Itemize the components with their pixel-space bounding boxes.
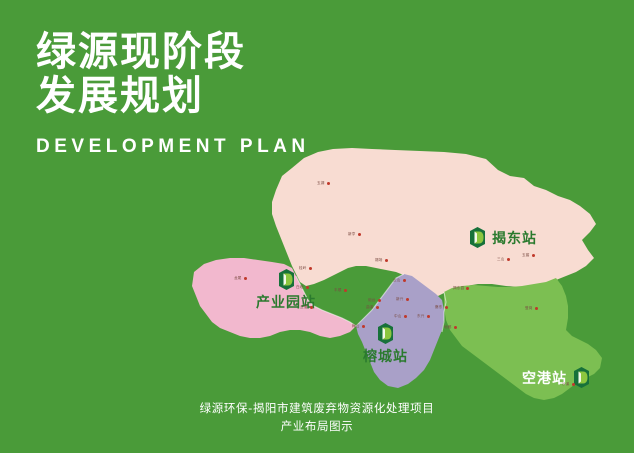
station-konggang[interactable]: 空港站 [522, 366, 591, 389]
city-marker: 玉窖 [522, 253, 535, 258]
city-label: 沙溪 [562, 382, 570, 387]
city-marker: 东兴 [417, 314, 430, 319]
caption-line-2: 产业布局图示 [0, 417, 634, 435]
station-rongcheng[interactable]: 榕城站 [363, 322, 408, 366]
city-dot-icon [376, 306, 379, 309]
city-label: 登岗 [525, 306, 533, 311]
city-dot-icon [378, 299, 381, 302]
city-marker: 梅云 [352, 324, 365, 329]
city-label: 炮台 [368, 298, 376, 303]
city-label: 玉窖 [522, 253, 530, 258]
title-block: 绿源现阶段 发展规划 DEVELOPMENT PLAN [36, 30, 366, 158]
city-marker: 锡场 [375, 258, 388, 263]
city-marker: 新兴 [396, 297, 409, 302]
city-label: 中山 [394, 314, 402, 319]
city-marker: 新亨 [348, 232, 361, 237]
city-dot-icon [445, 306, 448, 309]
city-marker: 云山 [393, 278, 406, 283]
caption-block: 绿源环保-揭阳市建筑废弃物资源化处理项目 产业布局图示 [0, 399, 634, 435]
green-leaf-logo-icon [468, 226, 487, 249]
city-label: 三山 [497, 257, 505, 262]
city-label: 揭东县 [453, 286, 464, 291]
city-marker: 白塔 [296, 285, 309, 290]
city-marker: 玉湖 [317, 181, 330, 186]
station-label: 榕城站 [363, 346, 408, 366]
city-marker: 登岗 [525, 306, 538, 311]
station-jiedong[interactable]: 揭东站 [468, 226, 537, 249]
city-label: 梅云 [352, 324, 360, 329]
city-dot-icon [404, 315, 407, 318]
slide-canvas: 绿源现阶段 发展规划 DEVELOPMENT PLAN 揭东站 产业园站 榕城站 [0, 0, 634, 453]
city-label: 锡场 [375, 258, 383, 263]
city-dot-icon [244, 277, 247, 280]
city-dot-icon [309, 267, 312, 270]
city-marker: 桂岭 [299, 266, 312, 271]
city-label: 磐东 [435, 305, 443, 310]
city-label: 新亨 [348, 232, 356, 237]
city-dot-icon [406, 298, 409, 301]
city-marker: 三山 [497, 257, 510, 262]
city-dot-icon [507, 258, 510, 261]
city-label: 白塔 [296, 285, 304, 290]
title-line-2: 发展规划 [36, 74, 366, 118]
city-marker: 丰顺 [334, 288, 347, 293]
city-dot-icon [454, 326, 457, 329]
city-dot-icon [403, 279, 406, 282]
city-label: 新兴 [396, 297, 404, 302]
city-marker: 中山 [394, 314, 407, 319]
caption-line-1: 绿源环保-揭阳市建筑废弃物资源化处理项目 [0, 399, 634, 417]
city-label: 地都 [444, 325, 452, 330]
green-leaf-logo-icon [572, 366, 591, 389]
city-dot-icon [427, 315, 430, 318]
city-marker: 云落 [300, 305, 313, 310]
city-dot-icon [466, 287, 469, 290]
city-marker: 沙溪 [562, 382, 575, 387]
city-dot-icon [310, 306, 313, 309]
city-marker: 曲溪 [366, 305, 379, 310]
city-label: 东兴 [417, 314, 425, 319]
station-label: 揭东站 [492, 228, 537, 248]
city-dot-icon [532, 254, 535, 257]
city-marker: 龙尾 [234, 276, 247, 281]
green-leaf-logo-icon [277, 268, 296, 291]
city-dot-icon [385, 259, 388, 262]
station-label: 空港站 [522, 368, 567, 388]
city-label: 云山 [393, 278, 401, 283]
green-leaf-logo-icon [376, 322, 395, 345]
city-marker: 揭东县 [453, 286, 469, 291]
city-dot-icon [306, 286, 309, 289]
city-label: 丰顺 [334, 288, 342, 293]
city-dot-icon [327, 182, 330, 185]
city-dot-icon [358, 233, 361, 236]
subtitle: DEVELOPMENT PLAN [36, 136, 366, 158]
city-dot-icon [362, 325, 365, 328]
city-dot-icon [344, 289, 347, 292]
city-marker: 磐东 [435, 305, 448, 310]
title-line-1: 绿源现阶段 [36, 30, 366, 74]
city-label: 龙尾 [234, 276, 242, 281]
city-label: 曲溪 [366, 305, 374, 310]
city-marker: 地都 [444, 325, 457, 330]
city-dot-icon [535, 307, 538, 310]
city-label: 云落 [300, 305, 308, 310]
city-marker: 炮台 [368, 298, 381, 303]
region-jiedong-north [272, 148, 596, 296]
city-label: 玉湖 [317, 181, 325, 186]
city-label: 桂岭 [299, 266, 307, 271]
city-dot-icon [572, 383, 575, 386]
